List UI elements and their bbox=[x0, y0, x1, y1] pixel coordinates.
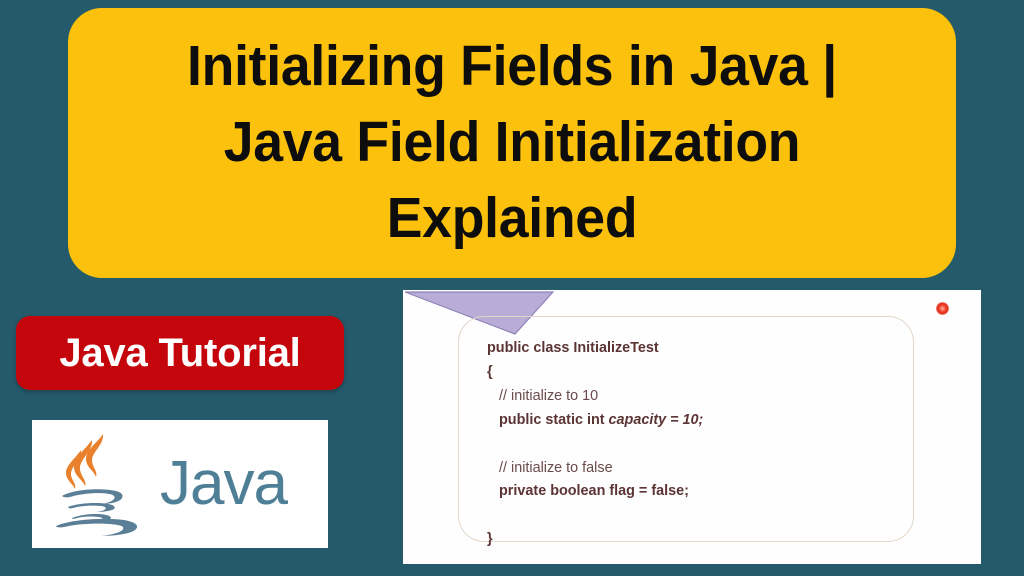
title-banner: Initializing Fields in Java | Java Field… bbox=[68, 8, 956, 278]
thumbnail-canvas: Initializing Fields in Java | Java Field… bbox=[0, 0, 1024, 576]
code-box: public class InitializeTest { // initial… bbox=[458, 316, 914, 542]
tutorial-badge: Java Tutorial bbox=[16, 316, 344, 390]
recording-dot-icon bbox=[936, 302, 949, 315]
java-cup-icon bbox=[46, 428, 154, 540]
java-wordmark: Java bbox=[160, 453, 287, 515]
code-listing: public class InitializeTest { // initial… bbox=[487, 337, 703, 552]
page-title: Initializing Fields in Java | Java Field… bbox=[122, 29, 902, 256]
code-slide-panel: public class InitializeTest { // initial… bbox=[403, 290, 981, 564]
tutorial-badge-label: Java Tutorial bbox=[59, 331, 300, 376]
java-logo-card: Java bbox=[32, 420, 328, 548]
